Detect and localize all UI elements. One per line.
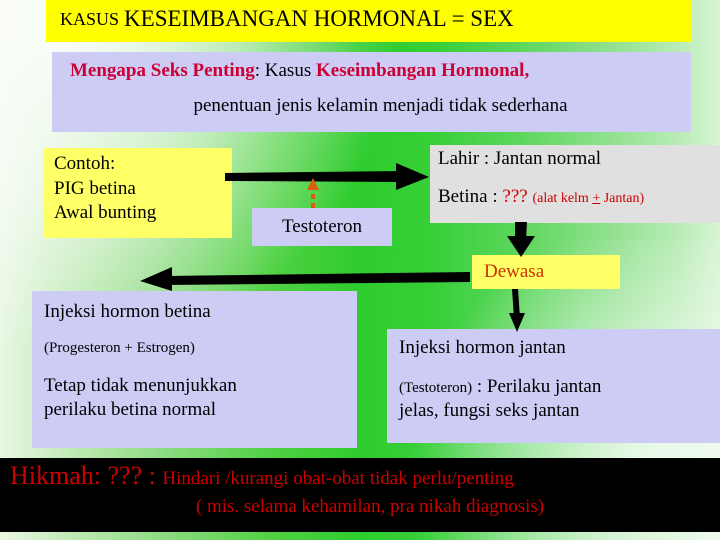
hikmah-line-1: Hikmah: ??? : Hindari /kurangi obat-obat…	[0, 461, 720, 491]
subtitle-emphasis-1: Mengapa Seks Penting	[70, 60, 255, 81]
betina-question-marks: ???	[502, 186, 532, 207]
contoh-line-2: PIG betina	[54, 177, 232, 202]
jantan-injection-result-line-2: jelas, fungsi seks jantan	[399, 399, 720, 423]
dewasa-stage-box: Dewasa	[472, 255, 620, 289]
hikmah-advice: Hindari /kurangi obat-obat tidak perlu/p…	[162, 468, 513, 489]
arrow-dewasa-to-betina-inject-icon	[140, 267, 470, 291]
jantan-injection-hormone: (Testoteron)	[399, 380, 472, 396]
testoteron-label: Testoteron	[282, 216, 362, 238]
arrow-testoteron-up-icon	[307, 178, 319, 208]
slide-title-main: KESEIMBANGAN HORMONAL = SEX	[124, 6, 514, 32]
contoh-example-box: Contoh: PIG betina Awal bunting	[44, 148, 232, 238]
arrow-dewasa-to-jantan-inject-icon	[509, 289, 525, 332]
testoteron-label-box: Testoteron	[252, 208, 392, 246]
subtitle-line-1: Mengapa Seks Penting: Kasus Keseimbangan…	[62, 60, 681, 82]
subtitle-emphasis-2: Keseimbangan Hormonal,	[316, 60, 529, 81]
arrow-contoh-to-lahir-icon	[225, 163, 429, 190]
lahir-line: Lahir : Jantan normal	[438, 148, 720, 170]
slide-title-banner: KASUS KESEIMBANGAN HORMONAL = SEX	[46, 0, 692, 42]
betina-injection-title: Injeksi hormon betina	[44, 301, 357, 323]
betina-note-close: Jantan)	[600, 191, 644, 206]
contoh-line-1: Contoh:	[54, 152, 232, 177]
betina-label: Betina :	[438, 186, 502, 207]
slide-subtitle-panel: Mengapa Seks Penting: Kasus Keseimbangan…	[52, 52, 691, 132]
jantan-injection-title: Injeksi hormon jantan	[399, 337, 720, 359]
betina-line: Betina : ??? (alat kelm + Jantan)	[438, 170, 720, 208]
jantan-injection-result-text: : Perilaku jantan	[472, 376, 601, 397]
arrow-lahir-to-dewasa-icon	[507, 222, 535, 257]
hikmah-label: Hikmah:	[10, 461, 108, 490]
betina-injection-result: Tetap tidak menunjukkan perilaku betina …	[44, 357, 357, 422]
betina-injection-result-line-1: Tetap tidak menunjukkan	[44, 374, 357, 398]
betina-injection-hormones: (Progesteron + Estrogen)	[44, 323, 357, 357]
slide-canvas: KASUS KESEIMBANGAN HORMONAL = SEX Mengap…	[0, 0, 720, 540]
slide-title-lead: KASUS	[60, 9, 119, 30]
jantan-injection-result-line-1: (Testoteron) : Perilaku jantan	[399, 375, 720, 399]
jantan-injection-box: Injeksi hormon jantan (Testoteron) : Per…	[387, 329, 720, 443]
betina-note-open: (alat kelm	[532, 191, 592, 206]
jantan-injection-result: (Testoteron) : Perilaku jantan jelas, fu…	[399, 359, 720, 423]
hikmah-question-marks: ??? :	[108, 461, 163, 490]
contoh-line-3: Awal bunting	[54, 201, 232, 226]
hikmah-conclusion-bar: Hikmah: ??? : Hindari /kurangi obat-obat…	[0, 458, 720, 532]
lahir-outcome-box: Lahir : Jantan normal Betina : ??? (alat…	[430, 145, 720, 223]
subtitle-plain-1: : Kasus	[255, 60, 316, 81]
subtitle-line-2: penentuan jenis kelamin menjadi tidak se…	[62, 82, 681, 117]
dewasa-label: Dewasa	[484, 261, 544, 283]
hikmah-line-2: ( mis. selama kehamilan, pra nikah diagn…	[0, 491, 720, 518]
betina-injection-box: Injeksi hormon betina (Progesteron + Est…	[32, 291, 357, 448]
betina-injection-result-line-2: perilaku betina normal	[44, 398, 357, 422]
